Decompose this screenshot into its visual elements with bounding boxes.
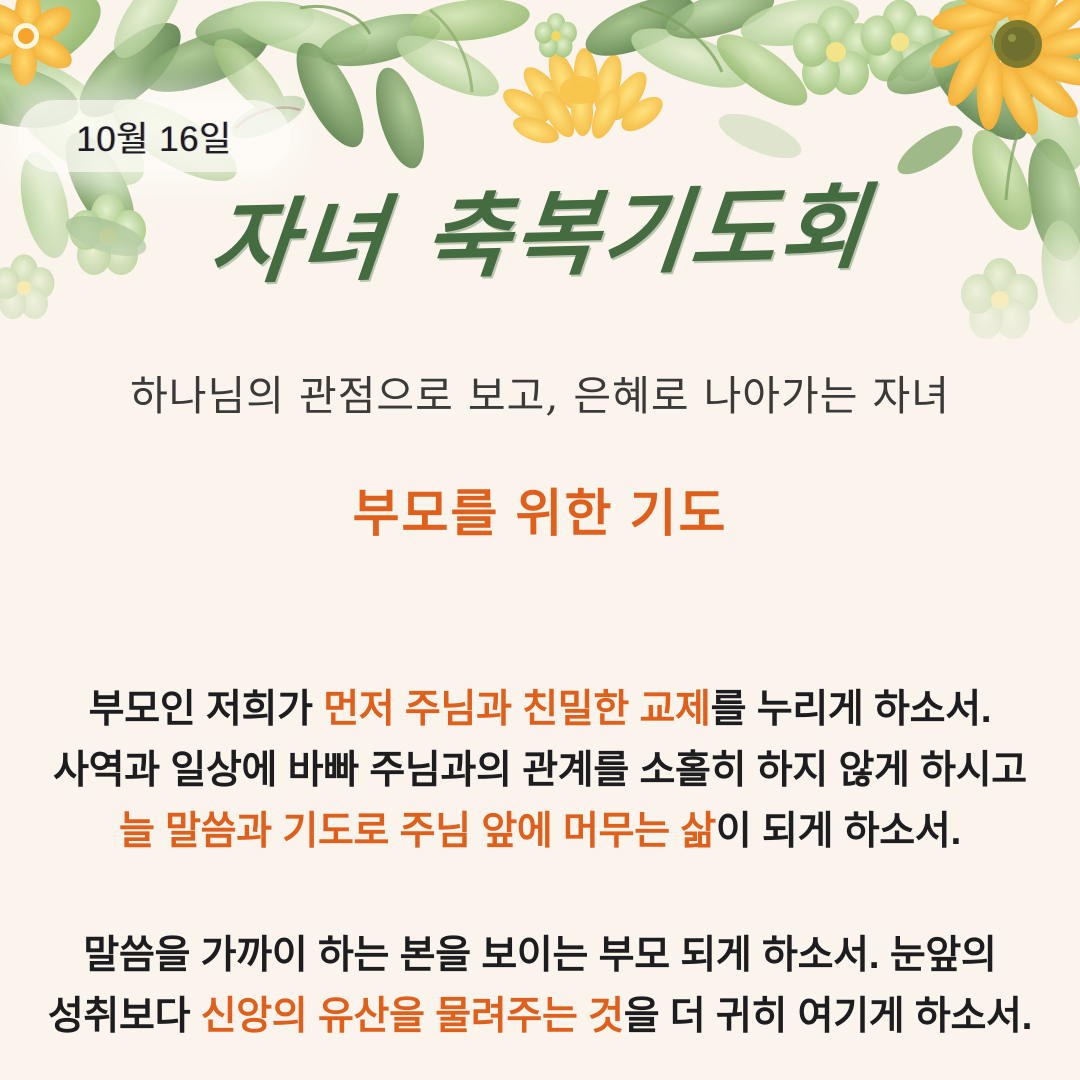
date-badge: 10월 16일 xyxy=(18,100,290,172)
green-blossom-icon xyxy=(793,6,878,95)
yellow-daisy-icon xyxy=(924,0,1080,140)
prayer-paragraph-2: 말씀을 가까이 하는 본을 보이는 부모 되게 하소서. 눈앞의 성취보다 신앙… xyxy=(44,925,1036,1047)
green-leaf-icon xyxy=(878,0,1080,326)
page-title: 자녀 축복기도회 xyxy=(0,175,1080,298)
date-badge-label: 10월 16일 xyxy=(76,111,232,162)
yellow-marigold-icon xyxy=(0,0,77,86)
prayer-card: 10월 16일 자녀 축복기도회 하나님의 관점으로 보고, 은혜로 나아가는 … xyxy=(0,0,1080,1080)
green-blossom-icon xyxy=(932,0,1000,70)
paragraph1-segment-1: 부모인 저희가 xyxy=(89,688,324,731)
page-subtitle: 하나님의 관점으로 보고, 은혜로 나아가는 자녀 xyxy=(0,362,1080,422)
green-blossom-icon xyxy=(860,0,938,82)
paragraph2-accent-1: 신앙의 유산을 물려주는 것 xyxy=(201,995,624,1038)
paragraph1-segment-3: 이 되게 하소서. xyxy=(716,810,961,853)
section-headline: 부모를 위한 기도 xyxy=(0,472,1080,546)
green-leaf-icon xyxy=(578,0,863,118)
paragraph1-accent-1: 먼저 주님과 친밀한 교제 xyxy=(323,688,710,731)
prayer-paragraph-1: 부모인 저희가 먼저 주님과 친밀한 교제를 누리게 하소서. 사역과 일상에 … xyxy=(44,679,1036,862)
green-leaf-icon xyxy=(713,105,807,168)
green-blossom-icon xyxy=(535,13,577,58)
prayer-body: 부모인 저희가 먼저 주님과 친밀한 교제를 누리게 하소서. 사역과 일상에 … xyxy=(44,640,1036,1080)
yellow-daisy-icon xyxy=(498,47,669,148)
paragraph1-accent-2: 늘 말씀과 기도로 주님 앞에 머무는 삶 xyxy=(119,810,716,853)
paragraph2-segment-2: 을 더 귀히 여기게 하소서. xyxy=(624,995,1032,1038)
green-leaf-icon xyxy=(891,117,970,183)
